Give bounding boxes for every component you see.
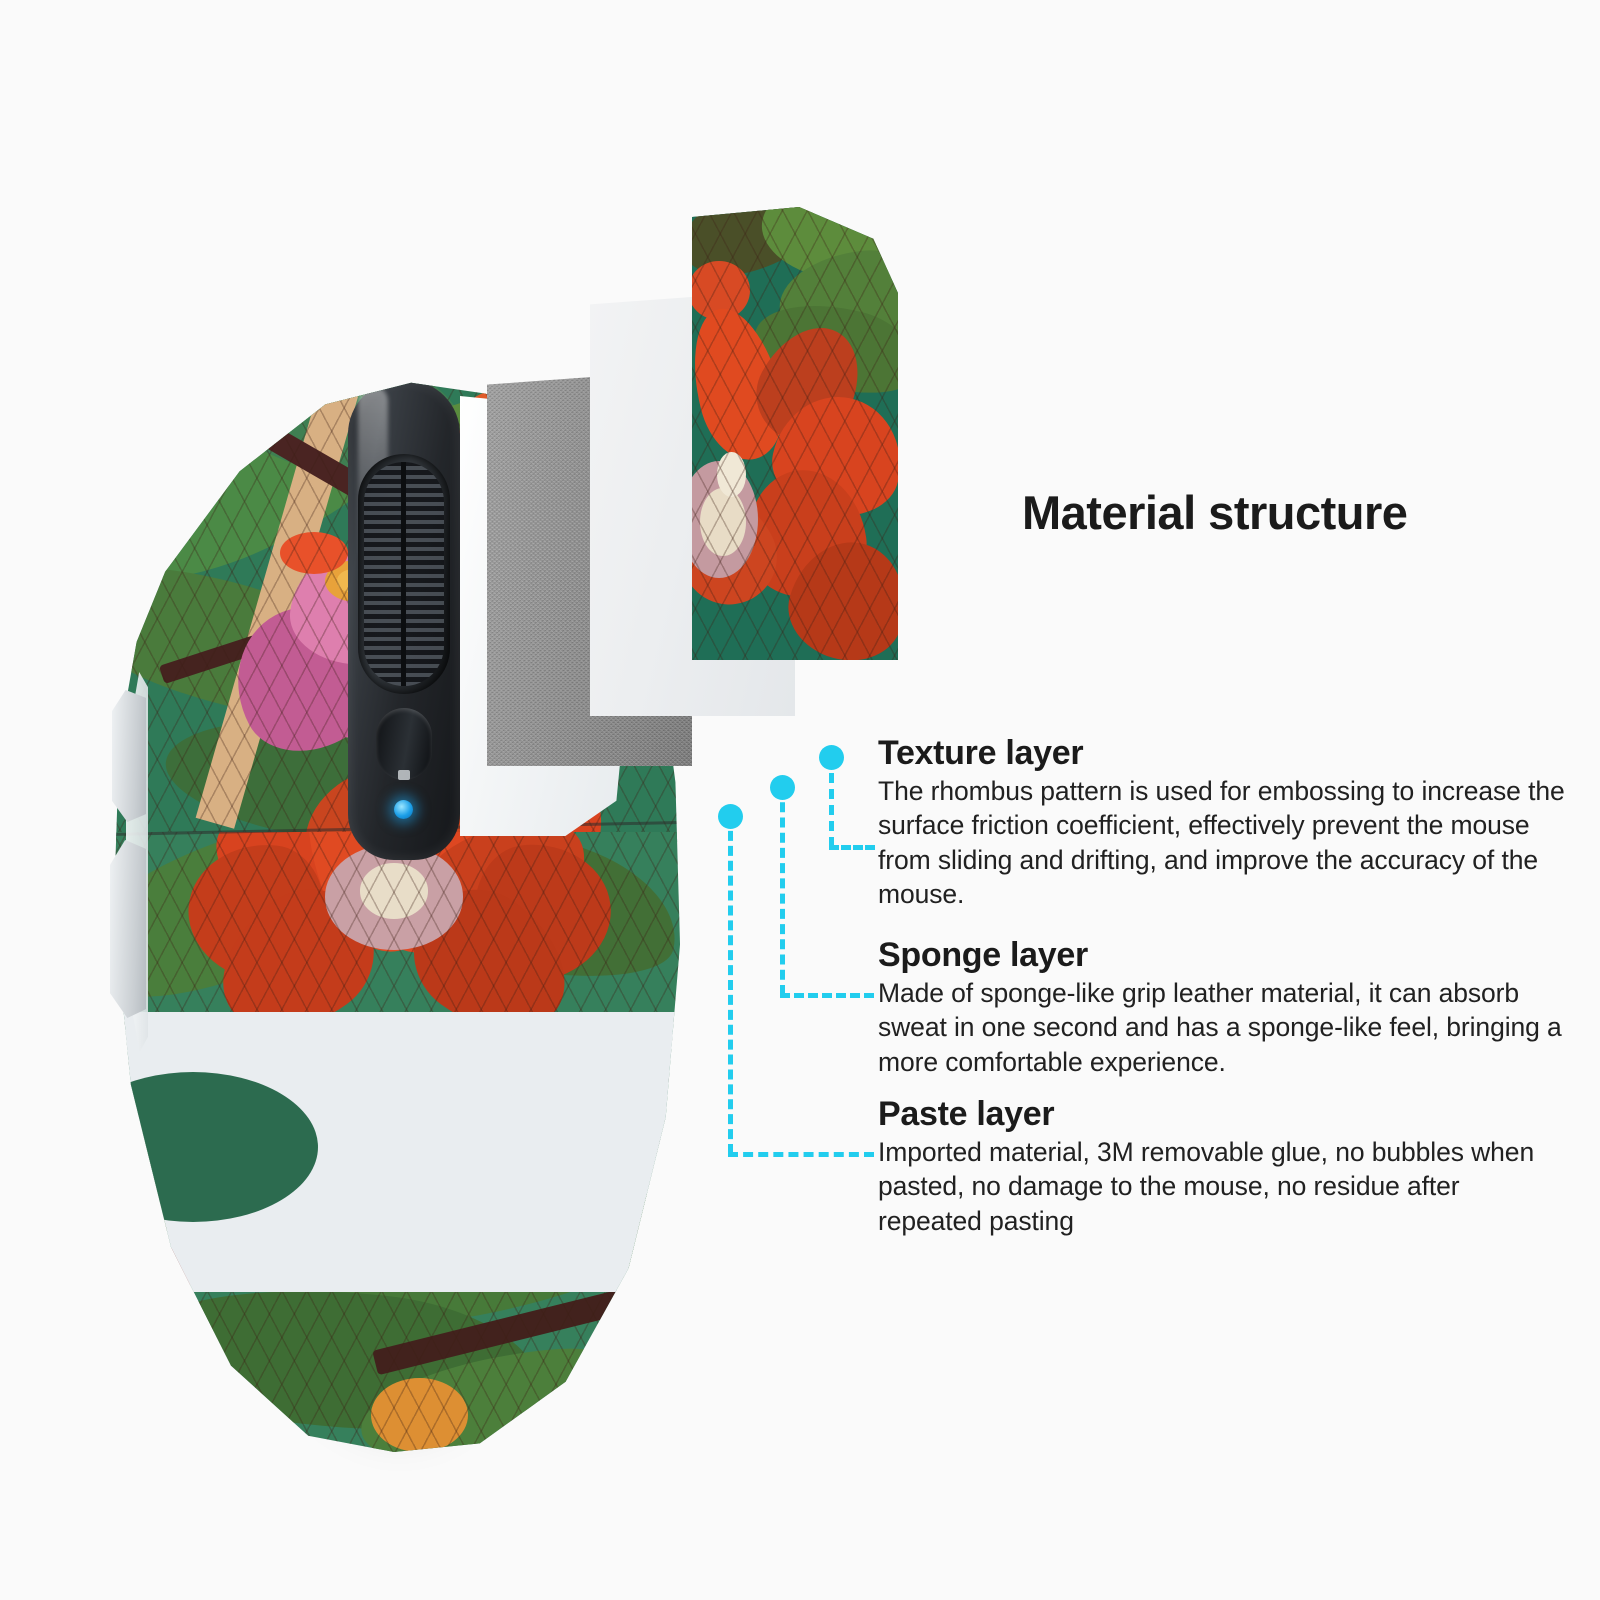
floral-artwork-swatch [692,207,898,660]
leader-line-paste-vertical [728,816,733,1154]
side-button-back[interactable] [110,840,146,1018]
layer-heading-sponge: Sponge layer [878,938,1568,974]
layer-body-paste: Imported material, 3M removable glue, no… [878,1135,1568,1238]
leader-line-texture-horizontal [829,845,875,850]
led-indicator [394,800,413,819]
page-title: Material structure [1022,485,1407,540]
exploded-sheet-texture-layer [692,207,898,660]
leader-line-paste-horizontal [728,1152,874,1157]
leader-line-texture-vertical [829,757,834,847]
layer-heading-paste: Paste layer [878,1097,1568,1133]
dpi-button-notch [398,770,410,780]
layer-body-texture: The rhombus pattern is used for embossin… [878,774,1568,912]
leader-line-sponge-horizontal [780,993,874,998]
layer-description-paste: Paste layer Imported material, 3M remova… [878,1097,1568,1238]
leader-line-sponge-vertical [780,787,785,995]
layer-heading-texture: Texture layer [878,736,1568,772]
layer-description-sponge: Sponge layer Made of sponge-like grip le… [878,938,1568,1079]
layer-body-sponge: Made of sponge-like grip leather materia… [878,976,1568,1079]
side-button-forward[interactable] [112,690,146,822]
infographic-canvas: Material structure Texture layer The rho… [0,0,1600,1600]
scroll-wheel-center-groove [401,462,406,686]
layer-description-texture: Texture layer The rhombus pattern is use… [878,736,1568,911]
